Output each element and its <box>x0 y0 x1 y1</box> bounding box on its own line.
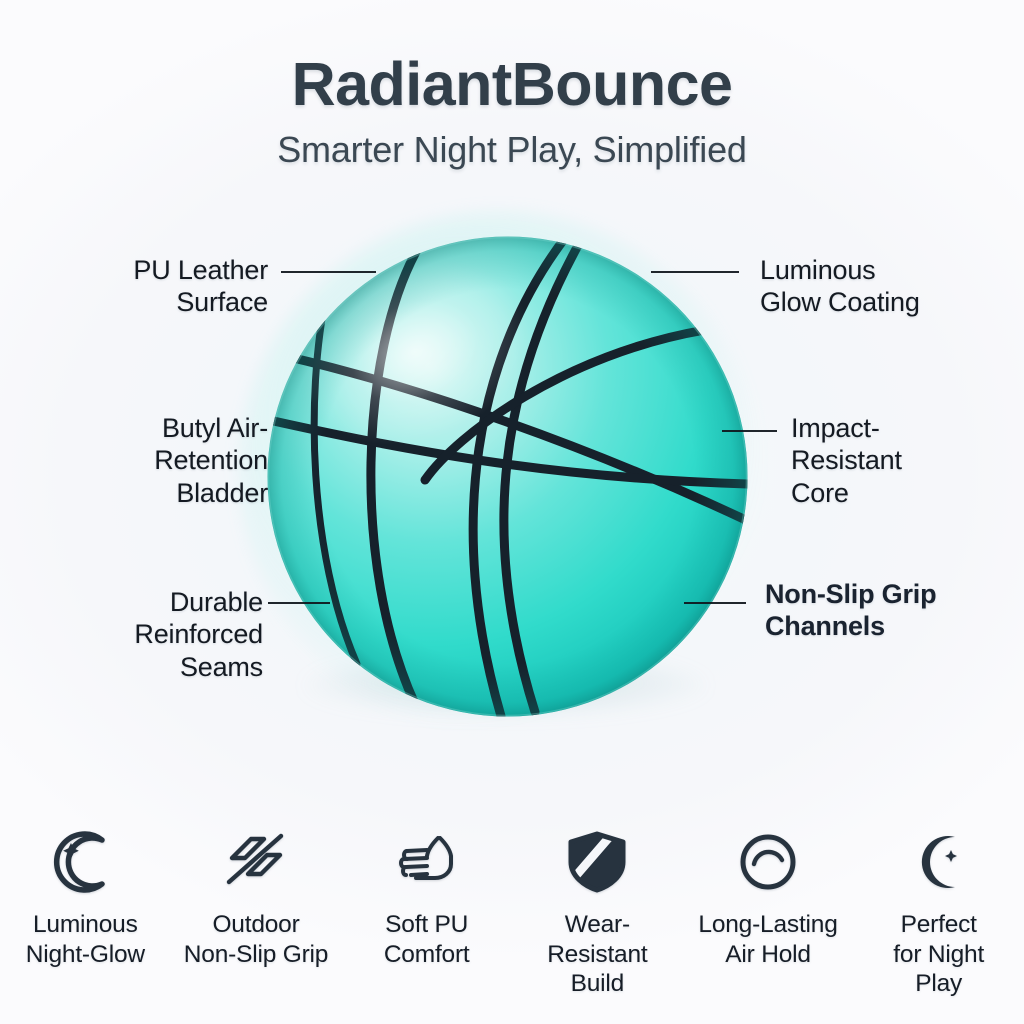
page-title: RadiantBounce <box>0 0 1024 115</box>
feature-label: Perfect for Night Play <box>893 910 984 999</box>
feature-strip: Luminous Night-Glow Outdoor Non-Slip Gri… <box>0 826 1024 999</box>
page-subtitle: Smarter Night Play, Simplified <box>0 115 1024 169</box>
feature-item-wear-resistant-build: Wear- Resistant Build <box>512 826 683 999</box>
feature-item-soft-pu-comfort: Soft PU Comfort <box>341 826 512 999</box>
feature-item-luminous-night-glow: Luminous Night-Glow <box>0 826 171 999</box>
feature-label: Outdoor Non-Slip Grip <box>184 910 328 969</box>
hand-icon <box>394 826 460 898</box>
product-infographic: RadiantBounce Smarter Night Play, Simpli… <box>0 0 1024 1024</box>
feature-label: Soft PU Comfort <box>384 910 470 969</box>
air-circle-icon <box>735 826 801 898</box>
callout-reinforced-seams: Durable Reinforced Seams <box>38 586 263 683</box>
leader-line-impact-core <box>722 430 777 432</box>
callout-non-slip-grip-channels: Non-Slip Grip Channels <box>765 578 1010 643</box>
diagonal-tread-lines-icon <box>223 826 289 898</box>
leader-line-luminous <box>651 271 739 273</box>
leader-line-pu-leather <box>281 271 376 273</box>
feature-label: Luminous Night-Glow <box>26 910 145 969</box>
feature-label: Wear- Resistant Build <box>547 910 647 999</box>
callout-pu-leather-surface: PU Leather Surface <box>58 254 268 319</box>
callout-luminous-glow-coating: Luminous Glow Coating <box>760 254 1010 319</box>
feature-item-perfect-for-night-play: Perfect for Night Play <box>853 826 1024 999</box>
feature-item-outdoor-non-slip-grip: Outdoor Non-Slip Grip <box>171 826 342 999</box>
shield-icon <box>564 826 630 898</box>
product-image-basketball <box>255 226 755 736</box>
crescent-moon-sparkle-icon <box>52 826 118 898</box>
feature-item-long-lasting-air-hold: Long-Lasting Air Hold <box>683 826 854 999</box>
callout-impact-resistant-core: Impact- Resistant Core <box>791 412 1021 509</box>
leader-line-seams <box>268 602 330 604</box>
moon-star-icon <box>906 826 972 898</box>
leader-line-non-slip <box>684 602 746 604</box>
header: RadiantBounce Smarter Night Play, Simpli… <box>0 0 1024 169</box>
callout-butyl-bladder: Butyl Air- Retention Bladder <box>48 412 268 509</box>
basketball-illustration <box>265 234 750 719</box>
feature-label: Long-Lasting Air Hold <box>698 910 837 969</box>
